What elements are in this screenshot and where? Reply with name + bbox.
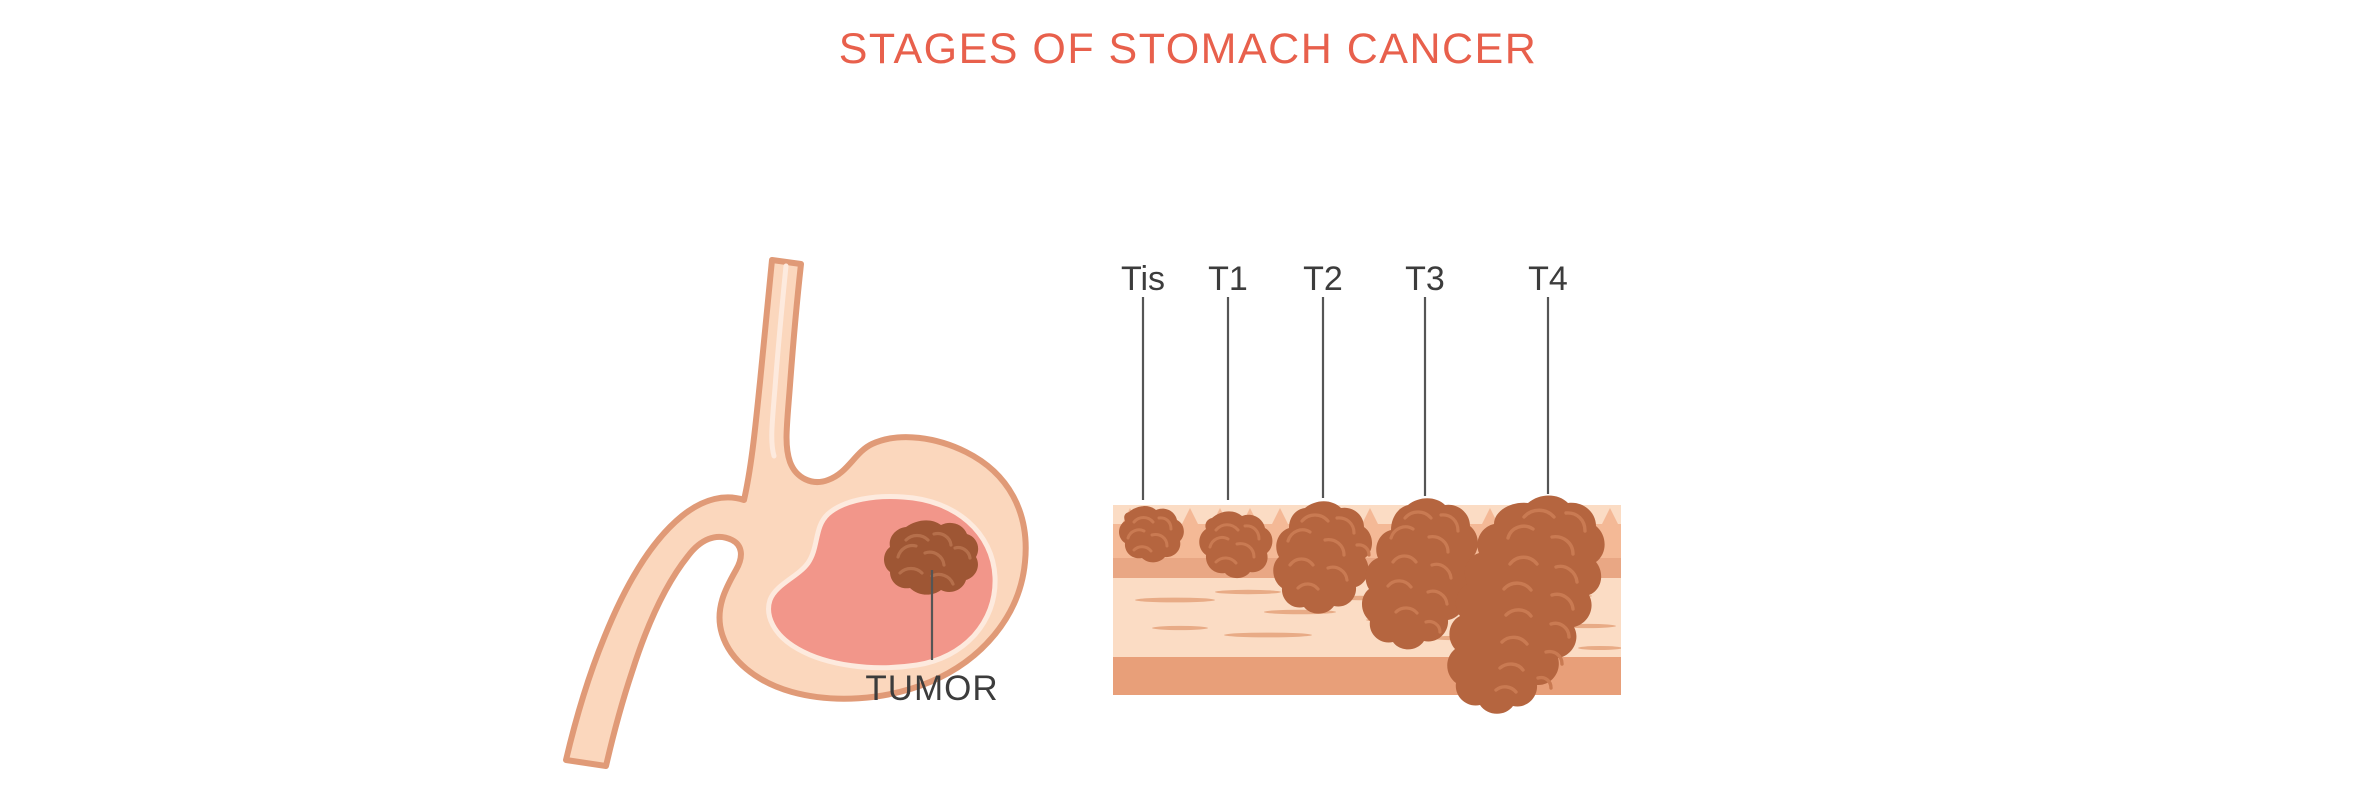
stage-labels: Tis T1 T2 T3 T4 <box>1121 260 1568 298</box>
stomach-cancer-infographic: STAGES OF STOMACH CANCER <box>0 0 2376 800</box>
stage-label-t3: T3 <box>1405 260 1445 298</box>
illustration-canvas: TUMOR <box>0 0 2376 800</box>
stage-label-t2: T2 <box>1303 260 1343 298</box>
tumor-stage-tis <box>1119 506 1184 562</box>
stage-label-tis: Tis <box>1121 260 1165 298</box>
stage-leader-lines <box>1143 297 1548 500</box>
stage-label-t4: T4 <box>1528 260 1568 298</box>
stage-label-t1: T1 <box>1208 260 1248 298</box>
stomach-cross-section: TUMOR <box>566 260 1026 766</box>
tumor-label: TUMOR <box>865 669 998 708</box>
tissue-layers-cross-section: Tis T1 T2 T3 T4 <box>1113 260 1622 714</box>
